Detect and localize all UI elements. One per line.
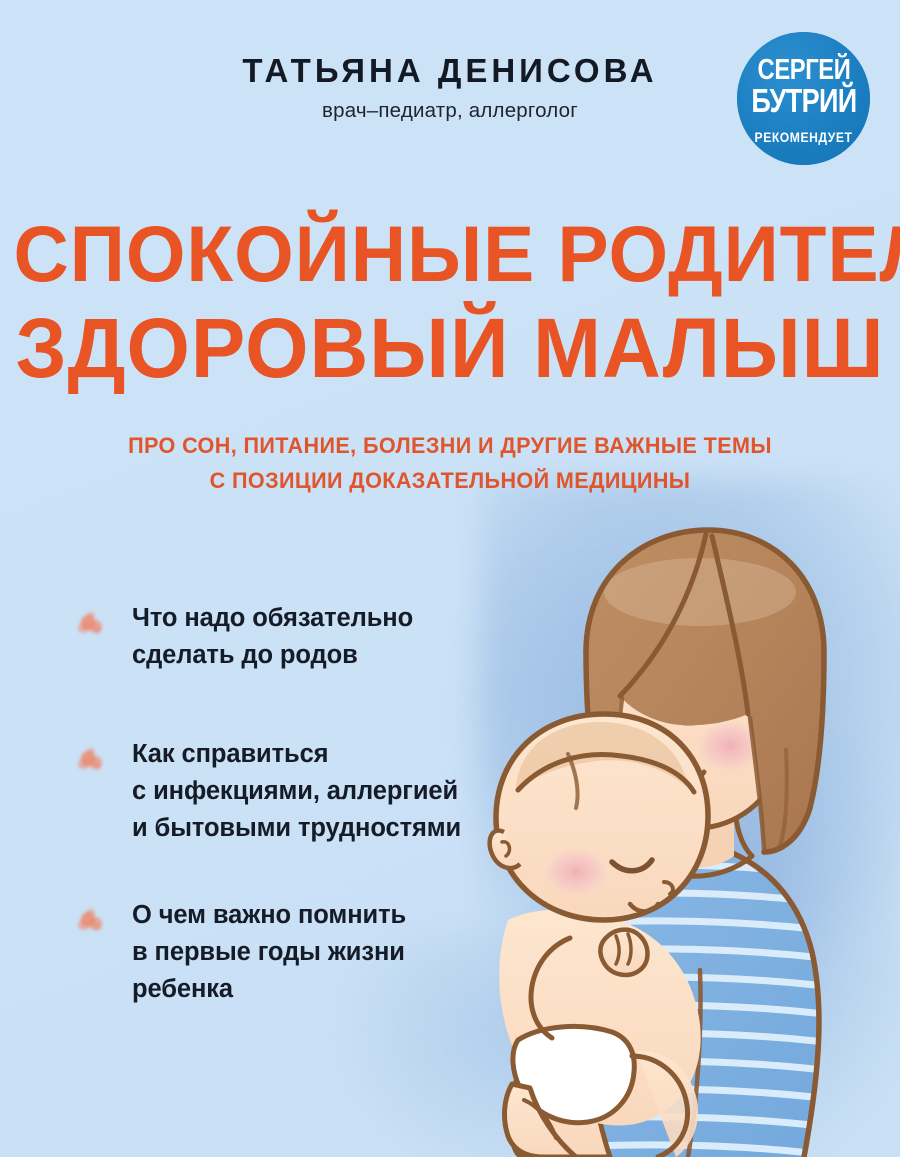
subtitle-line-1: ПРО СОН, ПИТАНИЕ, БОЛЕЗНИ И ДРУГИЕ ВАЖНЫ… [18, 428, 882, 463]
book-title: СПОКОЙНЫЕ РОДИТЕЛИ, ЗДОРОВЫЙ МАЛЫШ [0, 206, 900, 396]
badge-circle: СЕРГЕЙ БУТРИЙ РЕКОМЕНДУЕТ [737, 32, 870, 165]
book-subtitle: ПРО СОН, ПИТАНИЕ, БОЛЕЗНИ И ДРУГИЕ ВАЖНЫ… [0, 428, 900, 498]
splash-bullet-icon [76, 611, 106, 639]
splash-bullet-icon [76, 747, 106, 775]
badge-line-3: РЕКОМЕНДУЕТ [744, 130, 864, 145]
book-cover: ТАТЬЯНА ДЕНИСОВА врач–педиатр, аллерголо… [0, 0, 900, 1157]
badge-line-2: БУТРИЙ [737, 82, 870, 120]
splash-bullet-icon [76, 908, 106, 936]
title-line-2: ЗДОРОВЫЙ МАЛЫШ [14, 301, 887, 396]
mother-and-baby-illustration [400, 500, 900, 1157]
recommendation-badge: СЕРГЕЙ БУТРИЙ РЕКОМЕНДУЕТ [737, 32, 870, 165]
subtitle-line-2: С ПОЗИЦИИ ДОКАЗАТЕЛЬНОЙ МЕДИЦИНЫ [18, 463, 882, 498]
title-line-1: СПОКОЙНЫЕ РОДИТЕЛИ, [14, 206, 887, 301]
